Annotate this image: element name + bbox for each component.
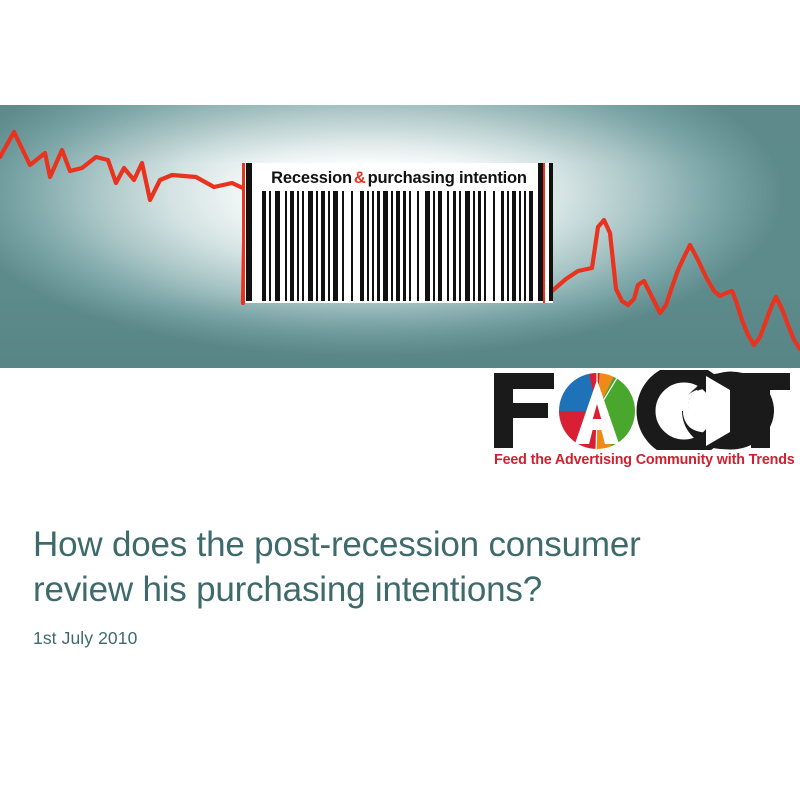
- barcode-guard-right-2: [549, 163, 553, 301]
- barcode-red-line-left: [242, 163, 245, 303]
- page-title: How does the post-recession consumer rev…: [33, 522, 763, 612]
- barcode-red-line-right: [543, 163, 546, 303]
- barcode-label-before: Recession: [271, 169, 352, 188]
- fact-logo: Feed the Advertising Community with Tren…: [492, 370, 792, 478]
- fact-logo-tagline: Feed the Advertising Community with Tren…: [494, 452, 792, 468]
- barcode-bars: [254, 191, 541, 301]
- page-title-line-1: How does the post-recession consumer: [33, 522, 763, 567]
- page-title-line-2: review his purchasing intentions?: [33, 567, 763, 612]
- barcode-panel: Recession & purchasing intention: [245, 163, 553, 303]
- barcode-label: Recession & purchasing intention: [263, 166, 535, 191]
- logo-letter-a-icon: [554, 370, 640, 450]
- barcode-graphic: Recession & purchasing intention: [245, 163, 553, 303]
- logo-letter-f-icon: [494, 373, 554, 448]
- presentation-date: 1st July 2010: [33, 628, 137, 649]
- barcode-guard-left: [246, 163, 252, 301]
- hero-banner: Recession & purchasing intention: [0, 105, 800, 368]
- barcode-label-ampersand: &: [352, 169, 368, 188]
- barcode-label-after: purchasing intention: [368, 169, 527, 188]
- fact-logo-mark: [492, 370, 792, 450]
